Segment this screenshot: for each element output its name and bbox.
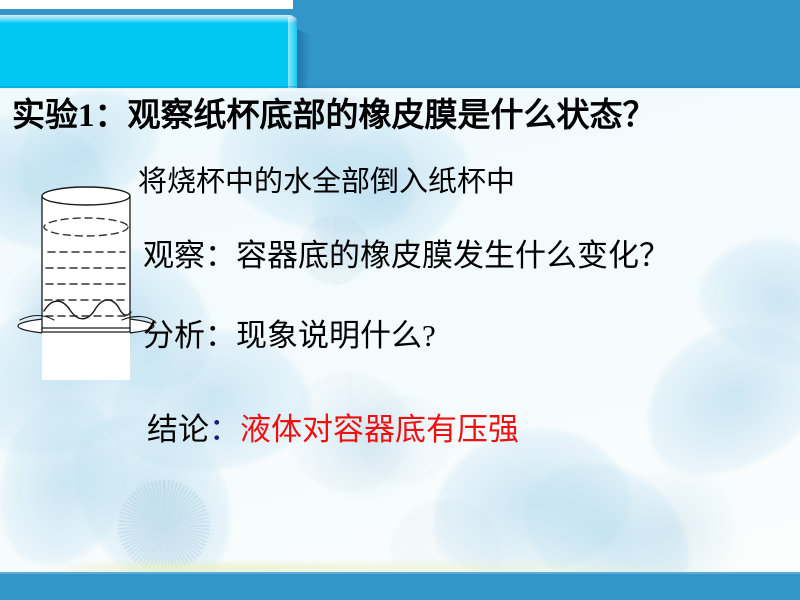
footer-band (0, 572, 800, 600)
header-title-tab (0, 17, 297, 88)
experiment-heading: 实验1：观察纸杯底部的橡皮膜是什么状态？ (12, 100, 656, 133)
cup-rim-top (42, 187, 130, 205)
footer-highlight (0, 572, 800, 574)
conclusion-label: 结论 (147, 412, 209, 447)
header-tab-right-edge (288, 17, 298, 88)
slide-canvas: 实验1：观察纸杯底部的橡皮膜是什么状态？ 将烧杯中的水全部倒入纸杯中 观察：容器… (0, 0, 800, 600)
step-analyze: 分析：现象说明什么? (143, 320, 436, 351)
header-tab-gloss (0, 15, 297, 23)
conclusion-answer: 液体对容器底有压强 (240, 412, 519, 447)
cup-body (42, 196, 130, 380)
header-top-notch (0, 0, 293, 9)
header-underline (0, 86, 800, 89)
step-pour-water: 将烧杯中的水全部倒入纸杯中 (138, 168, 515, 197)
conclusion-line: 结论：液体对容器底有压强 (147, 414, 519, 445)
step-observe: 观察：容器底的橡皮膜发生什么变化？ (143, 240, 670, 271)
conclusion-colon: ： (209, 412, 240, 447)
